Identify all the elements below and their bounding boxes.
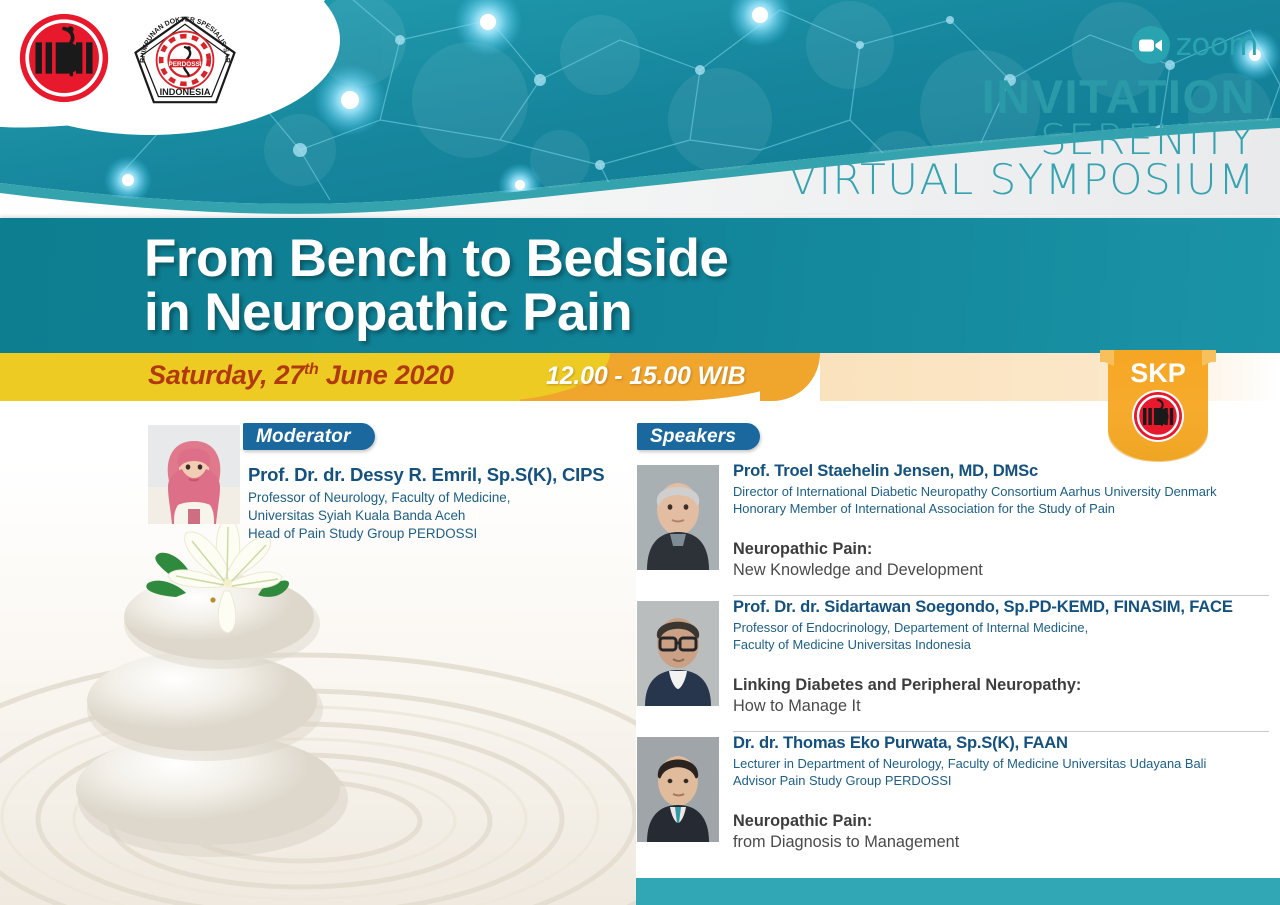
event-title-band: From Bench to Bedside in Neuropathic Pai… (0, 218, 1280, 353)
speakers-tab-label: Speakers (650, 426, 736, 448)
speaker-topic: Neuropathic Pain: New Knowledge and Deve… (733, 539, 1269, 581)
speaker-name: Dr. dr. Thomas Eko Purwata, Sp.S(K), FAA… (733, 733, 1269, 753)
speaker-name: Prof. Dr. dr. Sidartawan Soegondo, Sp.PD… (733, 597, 1269, 617)
speaker-entry: Dr. dr. Thomas Eko Purwata, Sp.S(K), FAA… (637, 733, 1269, 869)
speakers-section-tab: Speakers (637, 423, 760, 450)
idi-logo-icon (1132, 390, 1184, 442)
speaker-affiliation-line2: Advisor Pain Study Group PERDOSSI (733, 772, 1269, 789)
event-date: Saturday, 27th June 2020 (148, 360, 454, 391)
invitation-heading: INVITATION SERENITY VIRTUAL SYMPOSIUM (788, 74, 1256, 201)
speaker-topic-subtitle: from Diagnosis to Management (733, 833, 959, 851)
speaker-affiliation-line2: Faculty of Medicine Universitas Indonesi… (733, 636, 1269, 653)
speaker-photo (637, 737, 719, 842)
speaker-topic-title: Neuropathic Pain: (733, 540, 872, 558)
event-date-month: June 2020 (326, 360, 454, 390)
time-background-cap (760, 353, 820, 401)
event-date-day: Saturday, 27 (148, 360, 304, 390)
skp-label: SKP (1130, 358, 1186, 388)
event-date-suffix: th (304, 361, 319, 378)
page-title: From Bench to Bedside in Neuropathic Pai… (144, 232, 728, 340)
speaker-topic-subtitle: New Knowledge and Development (733, 561, 983, 579)
invitation-subtitle-serenity: SERENITY (788, 120, 1256, 161)
schedule-band: Saturday, 27th June 2020 12.00 - 15.00 W… (0, 353, 1280, 401)
event-title-line2: in Neuropathic Pain (144, 286, 728, 340)
event-title-line1: From Bench to Bedside (144, 232, 728, 286)
speaker-topic: Linking Diabetes and Peripheral Neuropat… (733, 675, 1269, 717)
speaker-affiliation-line2: Honorary Member of International Associa… (733, 500, 1269, 517)
speaker-divider (733, 731, 1269, 732)
zoom-logo: zoom (1132, 26, 1258, 64)
content-area: Moderator Prof. Dr. dr. Dessy R. Emril, … (0, 401, 1280, 905)
speaker-divider (733, 595, 1269, 596)
header-banner: PERDOSSI PERHIMPUNAN DOKTER SPESIALIS SA… (0, 0, 1280, 215)
speaker-entry: Prof. Dr. dr. Sidartawan Soegondo, Sp.PD… (637, 597, 1269, 733)
speaker-affiliation: Director of International Diabetic Neuro… (733, 483, 1269, 517)
speaker-photo (637, 465, 719, 570)
speaker-topic-title: Neuropathic Pain: (733, 812, 872, 830)
zoom-wordmark: zoom (1176, 30, 1258, 61)
moderator-section-tab: Moderator (243, 423, 375, 450)
speaker-entry: Prof. Troel Staehelin Jensen, MD, DMSc D… (637, 461, 1269, 597)
speaker-topic-title: Linking Diabetes and Peripheral Neuropat… (733, 676, 1081, 694)
skp-badge: SKP (1096, 348, 1220, 466)
idi-logo-icon (18, 12, 110, 104)
perdossi-logo-icon: PERDOSSI PERHIMPUNAN DOKTER SPESIALIS SA… (130, 14, 240, 106)
svg-text:PERDOSSI: PERDOSSI (168, 61, 201, 68)
event-time: 12.00 - 15.00 WIB (546, 362, 745, 391)
speaker-topic-subtitle: How to Manage It (733, 697, 861, 715)
speaker-affiliation: Professor of Endocrinology, Departement … (733, 619, 1269, 653)
invitation-title: INVITATION (788, 74, 1256, 120)
speaker-photo (637, 601, 719, 706)
speaker-topic: Neuropathic Pain: from Diagnosis to Mana… (733, 811, 1269, 853)
speakers-list: Prof. Troel Staehelin Jensen, MD, DMSc D… (637, 461, 1269, 869)
speaker-affiliation: Lecturer in Department of Neurology, Fac… (733, 755, 1269, 789)
moderator-tab-label: Moderator (256, 426, 351, 448)
speaker-affiliation-line1: Director of International Diabetic Neuro… (733, 483, 1269, 500)
svg-text:INDONESIA: INDONESIA (160, 87, 211, 97)
invitation-subtitle-symposium: VIRTUAL SYMPOSIUM (788, 160, 1256, 201)
video-camera-icon (1132, 26, 1170, 64)
speaker-affiliation-line1: Professor of Endocrinology, Departement … (733, 619, 1269, 636)
moderator-photo (148, 425, 240, 524)
footer-bar (636, 878, 1280, 905)
speaker-affiliation-line1: Lecturer in Department of Neurology, Fac… (733, 755, 1269, 772)
